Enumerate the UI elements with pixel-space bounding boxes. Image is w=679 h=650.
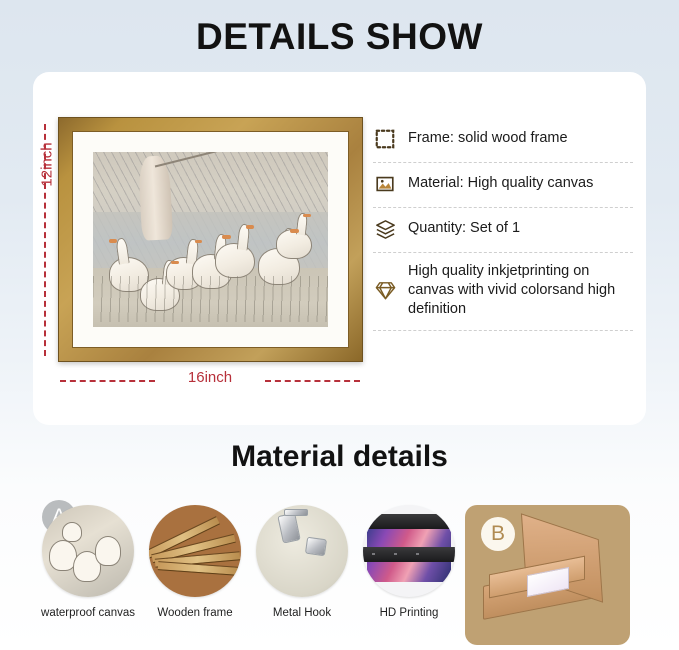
- material-thumb-canvas[interactable]: waterproof canvas: [40, 505, 136, 619]
- dimension-label-height: 12inch: [39, 142, 56, 186]
- dimension-dash-right: [265, 380, 360, 382]
- material-thumb-wood[interactable]: Wooden frame: [147, 505, 243, 619]
- grass-strokes: [93, 276, 328, 322]
- material-thumbnail-list: waterproof canvas Wooden frame Metal Hoo…: [40, 505, 460, 619]
- frame-icon: [373, 127, 397, 151]
- details-card: 12inch: [33, 72, 646, 425]
- layers-icon: [373, 217, 397, 241]
- wood-frame: [58, 117, 363, 362]
- material-caption-hook: Metal Hook: [254, 607, 350, 619]
- diamond-icon: [373, 279, 397, 303]
- goose: [215, 243, 255, 278]
- material-caption-printing: HD Printing: [361, 607, 457, 619]
- page-title: DETAILS SHOW: [0, 0, 679, 58]
- dimension-line-horizontal: 16inch: [60, 373, 360, 387]
- image-icon: [373, 172, 397, 196]
- material-thumb-printing[interactable]: HD Printing: [361, 505, 457, 619]
- section-title-material: Material details: [0, 440, 679, 474]
- metal-hook-icon: [256, 505, 348, 597]
- frame-mat: [72, 131, 349, 348]
- spec-text-material: Material: High quality canvas: [408, 174, 593, 193]
- artwork-image: [93, 152, 328, 327]
- spec-row-quantity: Quantity: Set of 1: [373, 208, 633, 253]
- canvas-swatch-icon: [42, 505, 134, 597]
- spec-text-quantity: Quantity: Set of 1: [408, 219, 520, 238]
- material-caption-wood: Wooden frame: [147, 607, 243, 619]
- wood-slats-icon: [149, 505, 241, 597]
- spec-row-frame: Frame: solid wood frame: [373, 118, 633, 163]
- spec-row-printing: High quality inkjetprinting on canvas wi…: [373, 253, 633, 331]
- dimension-label-width: 16inch: [184, 369, 236, 386]
- badge-b: B: [481, 517, 515, 551]
- material-caption-canvas: waterproof canvas: [40, 607, 136, 619]
- packaging-panel: B: [465, 505, 630, 645]
- framed-artwork: [58, 117, 363, 362]
- goose: [276, 229, 311, 259]
- specification-list: Frame: solid wood frame Material: High q…: [373, 118, 633, 331]
- dimension-dash-left: [60, 380, 155, 382]
- spec-text-frame: Frame: solid wood frame: [408, 129, 568, 148]
- spec-row-material: Material: High quality canvas: [373, 163, 633, 208]
- hd-printer-icon: [363, 505, 455, 597]
- material-thumb-hook[interactable]: Metal Hook: [254, 505, 350, 619]
- spec-text-printing: High quality inkjetprinting on canvas wi…: [408, 262, 633, 319]
